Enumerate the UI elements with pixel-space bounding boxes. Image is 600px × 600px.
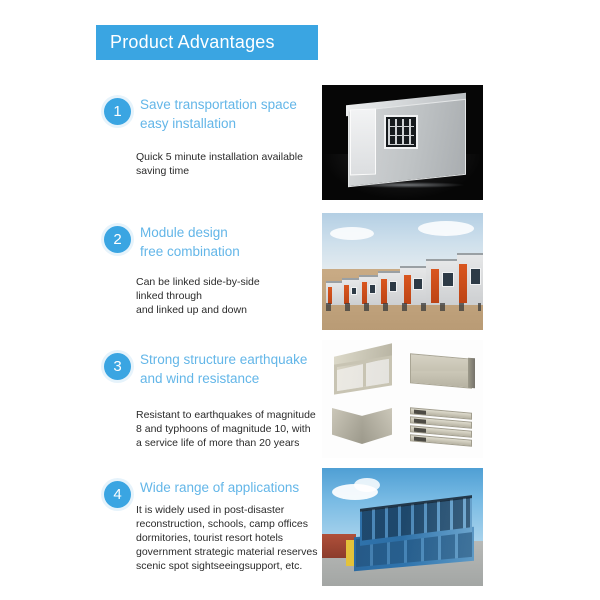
advantage-body-line: scenic spot sightseeingsupport, etc. [136,559,331,573]
advantage-number-badge-3: 3 [104,353,131,380]
advantage-heading-line: Module design [140,223,325,242]
photo-artwork [322,85,483,200]
wall-panel-component [408,346,476,396]
advantage-body-line: dormitories, tourist resort hotels [136,531,331,545]
panel-face-shape [410,353,472,388]
steel-structure-components-photo [322,340,483,458]
page-title: Product Advantages [110,32,275,53]
container-unit-shape [400,266,427,305]
container-unit-shape [457,253,483,305]
container-window-shape [389,281,397,292]
advantage-body-line: reconstruction, schools, camp offices [136,517,331,531]
advantage-body-line: government strategic material reserves [136,545,331,559]
advantage-body-4: It is widely used in post-disaster recon… [136,503,331,573]
cloud-shape [354,478,380,492]
container-support-legs-shape [326,303,481,311]
advantage-heading-1: Save transportation space easy installat… [140,95,325,133]
advantage-heading-line: Save transportation space [140,95,325,114]
container-door-shape [381,279,387,304]
v-profile-group [332,408,396,448]
advantage-body-2: Can be linked side-by-side linked throug… [136,275,331,317]
advantage-heading-line: Wide range of applications [140,478,325,497]
photo-artwork [322,340,483,458]
advantage-number-badge-1: 1 [104,98,131,125]
stacked-panels-component [408,402,476,452]
container-door-shape [328,287,332,304]
advantage-body-3: Resistant to earthquakes of magnitude 8 … [136,408,331,450]
v-profile-component [330,402,398,452]
advantage-heading-line: and wind resistance [140,369,325,388]
v-profile-shape [332,408,362,444]
advantage-body-line: and linked up and down [136,303,331,317]
advantage-number-badge-2: 2 [104,226,131,253]
photo-artwork [322,468,483,586]
container-window-shape [384,115,418,149]
container-window-shape [470,268,481,285]
container-window-shape [413,278,423,291]
blue-modular-building-photo [322,468,483,586]
container-unit-shape [326,281,343,305]
advantage-body-line: Quick 5 minute installation available [136,150,331,164]
container-unit-shape [342,278,360,305]
container-door-shape [404,275,411,304]
cloud-shape [418,221,474,236]
page-header-bar: Product Advantages [96,25,318,60]
container-unit-shape [378,271,401,305]
container-house-row-photo [322,213,483,330]
container-door-shape [431,269,439,303]
container-window-shape [351,287,357,296]
container-window-shape [442,272,454,287]
photo-artwork [322,213,483,330]
container-door-shape [344,285,349,305]
folding-container-house-photo [322,85,483,200]
stacked-panels-group [410,410,474,448]
advantage-heading-2: Module design free combination [140,223,325,261]
advantage-body-line: It is widely used in post-disaster [136,503,331,517]
advantage-heading-line: Strong structure earthquake [140,350,325,369]
advantage-body-line: a service life of more than 20 years [136,436,331,450]
advantage-body-line: linked through [136,289,331,303]
panel-end-shape [468,358,475,389]
container-window-shape [369,284,376,294]
advantage-heading-3: Strong structure earthquake and wind res… [140,350,325,388]
cloud-shape [330,227,374,240]
advantage-body-line: 8 and typhoons of magnitude 10, with [136,422,331,436]
container-door-shape [459,264,467,303]
advantage-body-1: Quick 5 minute installation available sa… [136,150,331,178]
advantage-body-line: Can be linked side-by-side [136,275,331,289]
advantage-body-line: Resistant to earthquakes of magnitude [136,408,331,422]
advantage-heading-line: easy installation [140,114,325,133]
steel-frame-component [330,346,398,396]
container-wall-panel-shape [350,109,376,176]
container-unit-shape [359,275,379,305]
advantage-body-line: saving time [136,164,331,178]
advantage-heading-line: free combination [140,242,325,261]
container-row-group [326,253,481,305]
container-door-shape [362,282,367,304]
container-unit-shape [426,259,458,305]
advantage-number-badge-4: 4 [104,481,131,508]
v-profile-shape [362,408,392,444]
advantage-heading-4: Wide range of applications [140,478,325,497]
container-shadow-shape [350,182,464,188]
